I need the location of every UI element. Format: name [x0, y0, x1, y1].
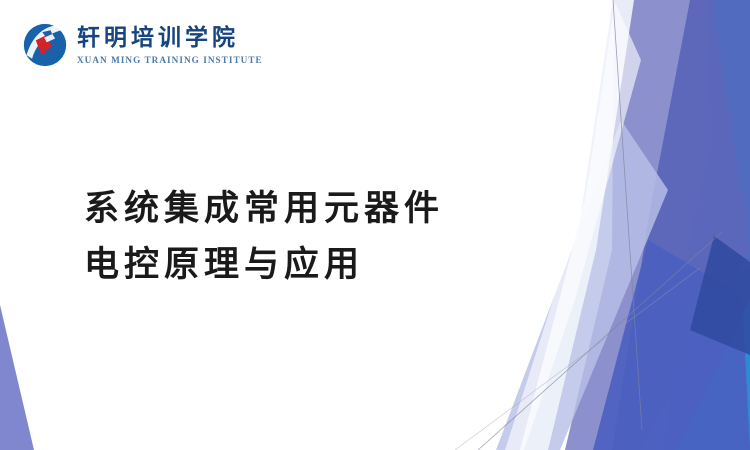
shape-pale-lilac-sliver [496, 120, 668, 450]
shape-indigo-wedge [612, 0, 750, 450]
title-line-1: 系统集成常用元器件 [84, 181, 444, 237]
shape-white-highlight [505, 2, 641, 450]
hairline-diagonal-sweep [455, 268, 700, 450]
shape-periwinkle-slab [565, 0, 750, 450]
shape-cyan-band [676, 0, 750, 450]
hairline-diagonal-lower [478, 232, 722, 450]
institute-logo: 轩明培训学院 XUAN MING TRAINING INSTITUTE [22, 22, 263, 68]
logo-english-name: XUAN MING TRAINING INSTITUTE [77, 55, 263, 67]
slide-canvas: 轩明培训学院 XUAN MING TRAINING INSTITUTE 系统集成… [0, 0, 750, 450]
logo-chinese-name: 轩明培训学院 [77, 25, 263, 53]
shape-royal-mass [593, 240, 750, 450]
shape-corner-triangle-left [0, 305, 34, 450]
slide-title: 系统集成常用元器件 电控原理与应用 [84, 181, 444, 293]
title-line-2: 电控原理与应用 [84, 237, 444, 293]
hairline-diagonal-upper [613, 0, 642, 430]
shape-azure-lower [664, 265, 750, 450]
xuanming-logo-mark [22, 22, 68, 68]
shape-deep-blue-accent [690, 236, 750, 355]
shape-mist-sliver [520, 0, 634, 450]
logo-wordmark: 轩明培训学院 XUAN MING TRAINING INSTITUTE [77, 24, 263, 66]
